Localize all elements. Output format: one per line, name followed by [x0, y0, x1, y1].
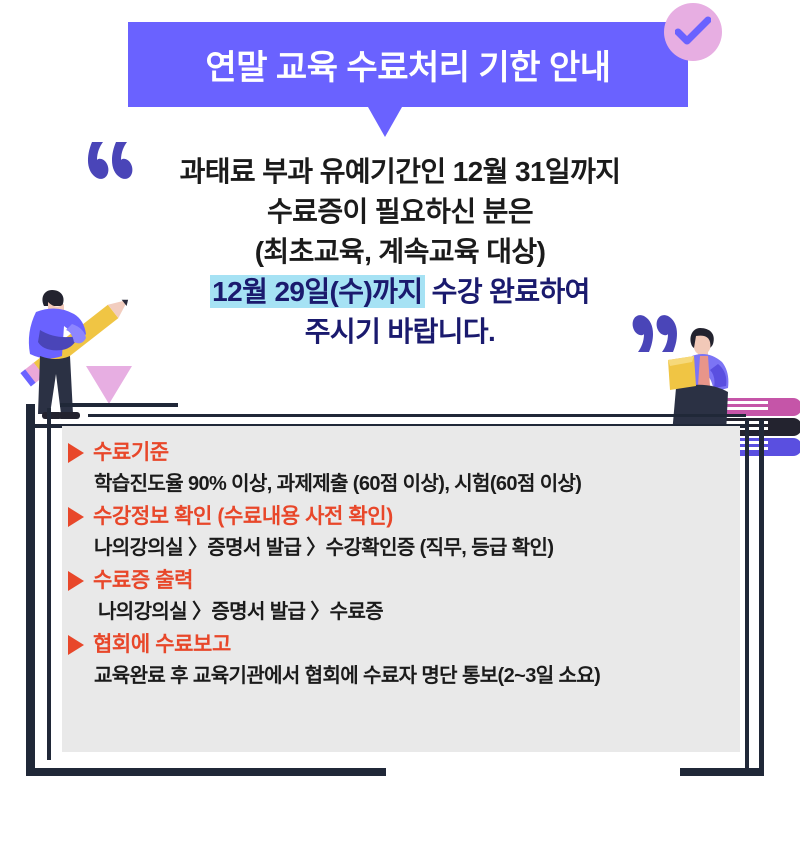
bullet-heading-label: 수료기준: [93, 438, 169, 468]
bullet-body-text: 교육완료 후 교육기관에서 협회에 수료자 명단 통보(2~3일 소요): [62, 660, 740, 692]
triangle-bullet-icon: [68, 443, 84, 463]
bullet-body-text: 나의강의실 〉증명서 발급 〉수강확인증 (직무, 등급 확인): [62, 532, 740, 564]
frame-right-edge-outer: [759, 420, 764, 770]
page-title: 연말 교육 수료처리 기한 안내: [128, 22, 688, 107]
message-line-3: (최초교육, 계속교육 대상): [100, 232, 700, 272]
message-line-1: 과태료 부과 유예기간인 12월 31일까지: [100, 152, 700, 192]
info-box: 수료기준 학습진도율 90% 이상, 과제제출 (60점 이상), 시험(60점…: [62, 426, 740, 752]
title-banner: 연말 교육 수료처리 기한 안내: [128, 22, 688, 107]
bullet-body-text: 나의강의실 〉증명서 발급 〉수료증: [62, 596, 740, 628]
check-circle-icon: [664, 3, 722, 61]
deadline-rest: 수강 완료하여: [425, 276, 590, 307]
list-item: 수료증 출력 나의강의실 〉증명서 발급 〉수료증: [62, 566, 740, 628]
triangle-bullet-icon: [68, 635, 84, 655]
main-message: 과태료 부과 유예기간인 12월 31일까지 수료증이 필요하신 분은 (최초교…: [100, 152, 700, 352]
bullet-heading-label: 협회에 수료보고: [93, 630, 231, 660]
bullet-heading-label: 수료증 출력: [93, 566, 193, 596]
frame-left-edge: [26, 404, 35, 776]
decor-rule-2: [88, 414, 746, 417]
frame-bottom-edge: [26, 768, 386, 776]
list-item: 수료기준 학습진도율 90% 이상, 과제제출 (60점 이상), 시험(60점…: [62, 438, 740, 500]
message-line-2: 수료증이 필요하신 분은: [100, 192, 700, 232]
pink-triangle-decoration: [86, 366, 132, 404]
deadline-highlight: 12월 29일(수)까지: [210, 275, 424, 308]
list-item: 협회에 수료보고 교육완료 후 교육기관에서 협회에 수료자 명단 통보(2~3…: [62, 630, 740, 692]
bullet-heading-course-info: 수강정보 확인 (수료내용 사전 확인): [62, 502, 740, 532]
bullet-heading-label: 수강정보 확인 (수료내용 사전 확인): [93, 502, 393, 532]
frame-inner-left-edge: [47, 408, 51, 760]
triangle-bullet-icon: [68, 571, 84, 591]
frame-bottom-right-edge: [680, 768, 764, 776]
poster-canvas: 연말 교육 수료처리 기한 안내 과태료 부과 유예기간인 12월 31일까지 …: [0, 0, 800, 850]
bullet-heading-report-to-association: 협회에 수료보고: [62, 630, 740, 660]
bullet-heading-certificate-print: 수료증 출력: [62, 566, 740, 596]
banner-down-arrow-icon: [368, 107, 402, 137]
message-line-5: 주시기 바랍니다.: [100, 312, 700, 352]
bullet-body-text: 학습진도율 90% 이상, 과제제출 (60점 이상), 시험(60점 이상): [62, 468, 740, 500]
triangle-bullet-icon: [68, 507, 84, 527]
frame-right-edge-inner: [745, 420, 749, 770]
message-line-deadline: 12월 29일(수)까지 수강 완료하여: [100, 272, 700, 312]
list-item: 수강정보 확인 (수료내용 사전 확인) 나의강의실 〉증명서 발급 〉수강확인…: [62, 502, 740, 564]
decor-rule-1: [60, 403, 178, 407]
bullet-heading-completion-criteria: 수료기준: [62, 438, 740, 468]
